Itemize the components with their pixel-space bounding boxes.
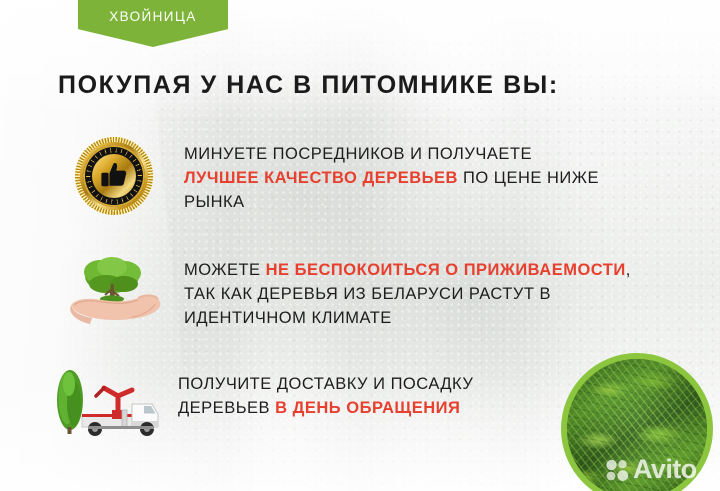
feature-line: РЫНКА — [184, 190, 599, 214]
page-title: ПОКУПАЯ У НАС В ПИТОМНИКЕ ВЫ: — [58, 71, 559, 100]
highlight-text: НЕ БЕСПОКОИТЬСЯ О ПРИЖИВАЕМОСТИ — [266, 261, 626, 279]
feature-line: ЛУЧШЕЕ КАЧЕСТВО ДЕРЕВЬЕВ ПО ЦЕНЕ НИЖЕ — [184, 166, 599, 190]
thuja-foliage-photo — [561, 353, 713, 491]
promo-poster: ХВОЙНИЦА ПОКУПАЯ У НАС В ПИТОМНИКЕ ВЫ: — [0, 0, 720, 491]
feature-text: МОЖЕТЕ НЕ БЕСПОКОИТЬСЯ О ПРИЖИВАЕМОСТИ, … — [184, 246, 631, 330]
feature-item: МИНУЕТЕ ПОСРЕДНИКОВ И ПОЛУЧАЕТЕ ЛУЧШЕЕ К… — [44, 130, 599, 222]
feature-line: ДЕРЕВЬЕВ В ДЕНЬ ОБРАЩЕНИЯ — [178, 396, 473, 420]
feature-icon-slot — [44, 246, 184, 338]
feature-line: ИДЕНТИЧНОМ КЛИМАТЕ — [184, 306, 631, 330]
highlight-text: В ДЕНЬ ОБРАЩЕНИЯ — [275, 399, 460, 417]
hand-holding-tree-icon — [62, 248, 166, 336]
highlight-text: ЛУЧШЕЕ КАЧЕСТВО ДЕРЕВЬЕВ — [184, 169, 458, 187]
feature-line: МИНУЕТЕ ПОСРЕДНИКОВ И ПОЛУЧАЕТЕ — [184, 142, 599, 166]
feature-item: ПОЛУЧИТЕ ДОСТАВКУ И ПОСАДКУ ДЕРЕВЬЕВ В Д… — [38, 362, 473, 446]
feature-icon-slot — [38, 362, 178, 446]
feature-line: МОЖЕТЕ НЕ БЕСПОКОИТЬСЯ О ПРИЖИВАЕМОСТИ, — [184, 258, 631, 282]
crane-truck-conifer-icon — [48, 366, 168, 442]
feature-line: ПОЛУЧИТЕ ДОСТАВКУ И ПОСАДКУ — [178, 372, 473, 396]
brand-badge-label: ХВОЙНИЦА — [109, 9, 196, 24]
feature-text: ПОЛУЧИТЕ ДОСТАВКУ И ПОСАДКУ ДЕРЕВЬЕВ В Д… — [178, 362, 473, 420]
feature-line: ТАК КАК ДЕРЕВЬЯ ИЗ БЕЛАРУСИ РАСТУТ В — [184, 282, 631, 306]
gold-medal-thumbs-up-icon — [75, 137, 153, 215]
feature-item: МОЖЕТЕ НЕ БЕСПОКОИТЬСЯ О ПРИЖИВАЕМОСТИ, … — [44, 246, 631, 338]
feature-icon-slot — [44, 130, 184, 222]
feature-text: МИНУЕТЕ ПОСРЕДНИКОВ И ПОЛУЧАЕТЕ ЛУЧШЕЕ К… — [184, 130, 599, 214]
